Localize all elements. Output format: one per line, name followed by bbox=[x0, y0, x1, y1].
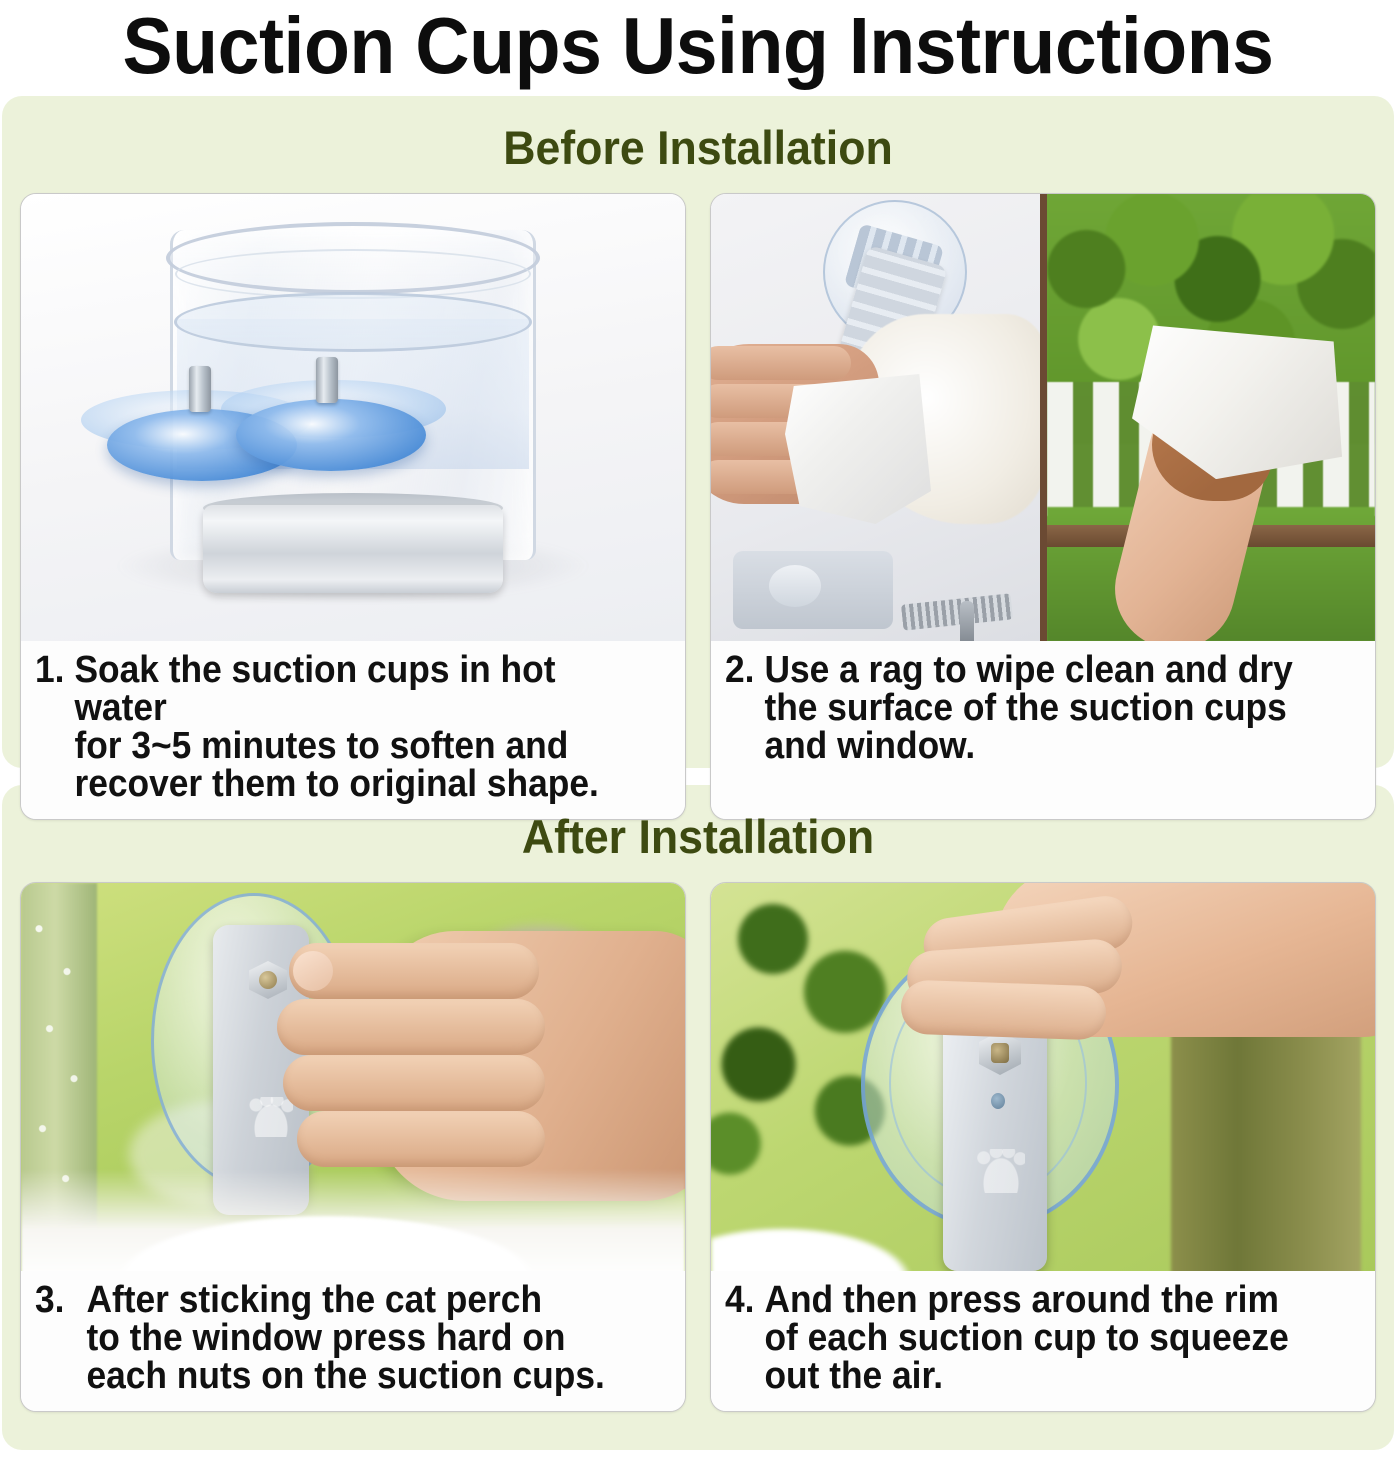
step-text-4: And then press around the rim of each su… bbox=[757, 1281, 1289, 1395]
photo-suction-cups-soaking bbox=[21, 194, 685, 641]
finger-ring-4 bbox=[900, 979, 1107, 1040]
paw-print-emboss bbox=[249, 1097, 293, 1137]
step-number-4: 4. bbox=[725, 1281, 754, 1319]
step-card-2: 2. Use a rag to wipe clean and dry the s… bbox=[710, 193, 1376, 820]
zipper bbox=[901, 593, 1013, 630]
section-heading-before: Before Installation bbox=[37, 96, 1359, 193]
fleece-cushion-4 bbox=[711, 1211, 951, 1271]
bracket-vent-hole bbox=[991, 1093, 1005, 1109]
photo-wiping-cups-and-window bbox=[711, 194, 1375, 641]
cleaning-rag-left bbox=[785, 374, 931, 524]
step-text-2: Use a rag to wipe clean and dry the surf… bbox=[757, 651, 1293, 765]
step-number-2: 2. bbox=[725, 651, 754, 689]
step-card-3: 3. After sticking the cat perch to the w… bbox=[20, 882, 686, 1412]
fleece-cushion bbox=[21, 1169, 685, 1271]
fingernail bbox=[293, 951, 333, 991]
photo-half-wipe-cup bbox=[711, 194, 1040, 641]
photo-pressing-rim bbox=[711, 883, 1375, 1271]
step-card-1: 1. Soak the suction cups in hot water fo… bbox=[20, 193, 686, 820]
finger-1 bbox=[711, 346, 851, 380]
metal-stud-left bbox=[189, 366, 211, 412]
metal-base bbox=[203, 505, 503, 593]
perch-frame-hole bbox=[769, 565, 821, 607]
step-card-4: 4. And then press around the rim of each… bbox=[710, 882, 1376, 1412]
finger-middle bbox=[277, 999, 545, 1055]
section-after-installation: After Installation 3. bbox=[2, 785, 1394, 1450]
photo-half-wipe-window bbox=[1040, 194, 1375, 641]
photo-pressing-nut bbox=[21, 883, 685, 1271]
suction-cup-right bbox=[236, 399, 426, 471]
page-title: Suction Cups Using Instructions bbox=[42, 0, 1354, 86]
finger-ring bbox=[283, 1055, 545, 1111]
paw-print-emboss-4 bbox=[977, 1149, 1025, 1193]
hex-nut-core-4 bbox=[991, 1043, 1009, 1063]
section-before-installation: Before Installation 1 bbox=[2, 96, 1394, 768]
step-number-3: 3. bbox=[35, 1281, 76, 1319]
finger-pinky bbox=[297, 1111, 545, 1167]
step-caption-3: 3. After sticking the cat perch to the w… bbox=[21, 1271, 685, 1411]
section-heading-after: After Installation bbox=[37, 785, 1359, 882]
step-number-1: 1. bbox=[35, 651, 64, 689]
step-text-1: Soak the suction cups in hot water for 3… bbox=[67, 651, 631, 803]
step-text-3: After sticking the cat perch to the wind… bbox=[79, 1281, 605, 1395]
card-row-after: 3. After sticking the cat perch to the w… bbox=[2, 882, 1394, 1412]
step-caption-4: 4. And then press around the rim of each… bbox=[711, 1271, 1375, 1411]
hex-nut-core bbox=[259, 971, 277, 989]
water-surface bbox=[174, 292, 532, 352]
card-row-before: 1. Soak the suction cups in hot water fo… bbox=[2, 193, 1394, 820]
metal-stud-right bbox=[316, 357, 338, 403]
zipper-pull bbox=[960, 601, 974, 641]
